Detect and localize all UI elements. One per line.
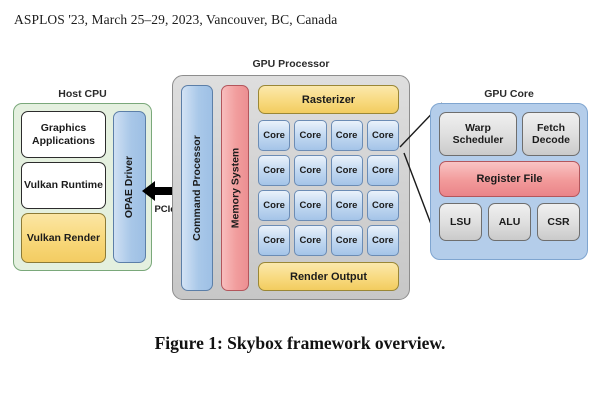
block-core: Core bbox=[367, 225, 399, 256]
block-csr: CSR bbox=[537, 203, 580, 241]
gpu-core-panel: Warp Scheduler Fetch Decode Register Fil… bbox=[430, 103, 588, 260]
block-core: Core bbox=[331, 155, 363, 186]
block-rasterizer: Rasterizer bbox=[258, 85, 399, 114]
block-core: Core bbox=[367, 120, 399, 151]
venue-header: ASPLOS '23, March 25–29, 2023, Vancouver… bbox=[14, 12, 337, 28]
block-core: Core bbox=[258, 120, 290, 151]
block-core: Core bbox=[258, 155, 290, 186]
opae-driver-label: OPAE Driver bbox=[124, 156, 136, 218]
block-lsu: LSU bbox=[439, 203, 482, 241]
block-core: Core bbox=[367, 190, 399, 221]
block-core: Core bbox=[294, 155, 326, 186]
block-alu: ALU bbox=[488, 203, 531, 241]
host-cpu-title: Host CPU bbox=[13, 88, 152, 100]
block-core: Core bbox=[258, 190, 290, 221]
block-vulkan-render: Vulkan Render bbox=[21, 213, 106, 263]
block-register-file: Register File bbox=[439, 161, 580, 197]
block-render-output: Render Output bbox=[258, 262, 399, 291]
block-core: Core bbox=[331, 190, 363, 221]
block-core: Core bbox=[294, 190, 326, 221]
block-core: Core bbox=[331, 225, 363, 256]
core-grid: CoreCoreCoreCoreCoreCoreCoreCoreCoreCore… bbox=[258, 120, 399, 256]
block-core: Core bbox=[331, 120, 363, 151]
block-core: Core bbox=[367, 155, 399, 186]
command-processor-label: Command Processor bbox=[191, 135, 203, 241]
block-warp-scheduler: Warp Scheduler bbox=[439, 112, 517, 156]
block-core: Core bbox=[258, 225, 290, 256]
figure-caption: Figure 1: Skybox framework overview. bbox=[0, 333, 600, 354]
block-vulkan-runtime: Vulkan Runtime bbox=[21, 162, 106, 209]
memory-system-label: Memory System bbox=[229, 148, 241, 229]
block-graphics-applications: Graphics Applications bbox=[21, 111, 106, 158]
gpu-processor-panel: Command Processor Memory System Rasteriz… bbox=[172, 75, 410, 300]
host-cpu-panel: Graphics Applications Vulkan Runtime Vul… bbox=[13, 103, 152, 271]
block-fetch-decode: Fetch Decode bbox=[522, 112, 580, 156]
gpu-processor-title: GPU Processor bbox=[172, 58, 410, 70]
block-core: Core bbox=[294, 225, 326, 256]
block-command-processor: Command Processor bbox=[181, 85, 213, 291]
gpu-core-title: GPU Core bbox=[430, 88, 588, 100]
block-core: Core bbox=[294, 120, 326, 151]
block-memory-system: Memory System bbox=[221, 85, 249, 291]
